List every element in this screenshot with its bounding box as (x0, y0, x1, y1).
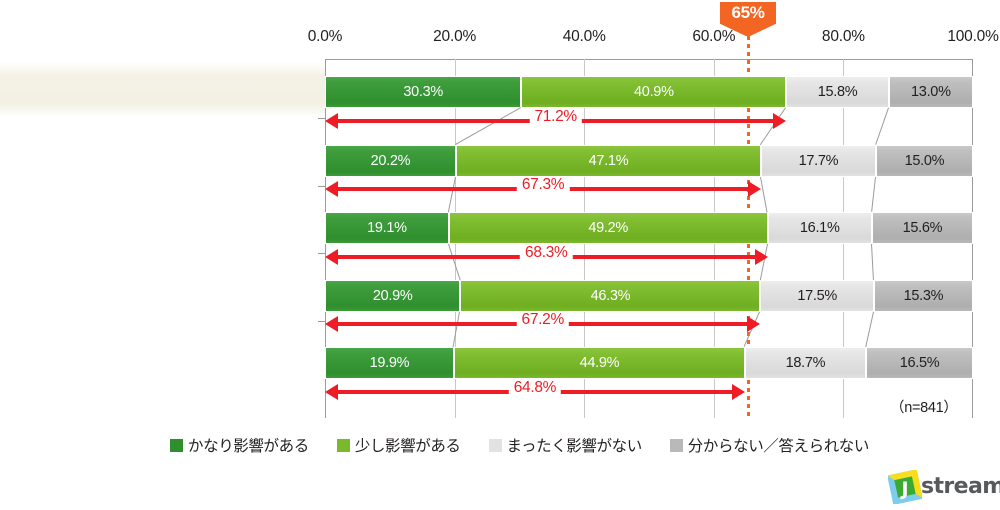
x-axis-tick-label: 80.0% (822, 28, 865, 46)
stacked-bar-chart: 0.0%20.0%40.0%60.0%80.0%100.0% 65% 営業効率へ… (0, 0, 1000, 510)
bar-segment: 16.1% (768, 212, 872, 244)
bar-segment: 20.2% (325, 145, 456, 177)
gridline (584, 59, 585, 76)
bar-segment: 15.0% (876, 145, 973, 177)
legend-item-1[interactable]: 少し影響がある (337, 434, 461, 456)
arrow-total-label: 67.2% (516, 311, 568, 329)
bar-segment: 20.9% (325, 280, 460, 312)
bar-segment: 40.9% (521, 76, 786, 108)
legend-label: 少し影響がある (355, 434, 461, 456)
total-arrow: 64.8% (325, 381, 745, 403)
arrow-total-label: 71.2% (529, 108, 581, 126)
bar-value-label: 49.2% (588, 220, 628, 236)
arrow-head-right (755, 249, 768, 265)
bar-segment: 49.2% (449, 212, 768, 244)
x-axis-tick-label: 100.0% (947, 28, 998, 46)
bar-value-label: 15.6% (903, 220, 943, 236)
arrow-head-right (748, 181, 761, 197)
gridline (714, 59, 715, 76)
legend-label: 分からない／答えられない (688, 434, 869, 456)
bar-segment: 44.9% (454, 347, 745, 379)
legend-swatch-icon (337, 439, 350, 452)
arrow-total-label: 67.3% (517, 176, 569, 194)
legend-label: まったく影響がない (507, 434, 642, 456)
arrow-head-right (732, 384, 745, 400)
legend-item-3[interactable]: 分からない／答えられない (670, 434, 869, 456)
bar-segment: 15.6% (872, 212, 973, 244)
arrow-head-right (747, 316, 760, 332)
arrow-head-left (325, 384, 338, 400)
bar-segment: 19.9% (325, 347, 454, 379)
legend-swatch-icon (489, 439, 502, 452)
bar-value-label: 16.5% (900, 355, 940, 371)
bar-segment: 30.3% (325, 76, 521, 108)
legend-swatch-icon (670, 439, 683, 452)
x-axis-tick-label: 0.0% (308, 28, 343, 46)
bar-value-label: 47.1% (589, 153, 629, 169)
jstream-logo: J stream (888, 468, 992, 506)
bar-value-label: 20.9% (373, 288, 413, 304)
chart-legend: かなり影響がある少し影響があるまったく影響がない分からない／答えられない (170, 434, 869, 456)
arrow-head-left (325, 316, 338, 332)
legend-label: かなり影響がある (188, 434, 309, 456)
x-axis-tick-label: 40.0% (563, 28, 606, 46)
bar-row: 30.3%40.9%15.8%13.0% (325, 76, 973, 108)
bar-segment: 19.1% (325, 212, 449, 244)
bar-segment: 15.8% (786, 76, 888, 108)
bar-segment: 18.7% (745, 347, 866, 379)
jstream-logo-word: stream (921, 474, 1000, 499)
gridline (843, 177, 844, 212)
bar-value-label: 46.3% (591, 288, 631, 304)
total-arrow: 68.3% (325, 246, 768, 268)
bar-value-label: 16.1% (800, 220, 840, 236)
bar-value-label: 17.7% (799, 153, 839, 169)
bar-segment: 47.1% (456, 145, 761, 177)
arrow-head-left (325, 181, 338, 197)
y-axis-tick (318, 321, 325, 322)
bar-value-label: 18.7% (786, 355, 826, 371)
total-arrow: 71.2% (325, 110, 786, 132)
legend-item-2[interactable]: まったく影響がない (489, 434, 642, 456)
x-axis-tick-label: 20.0% (433, 28, 476, 46)
bar-value-label: 44.9% (580, 355, 620, 371)
bar-value-label: 15.0% (905, 153, 945, 169)
bar-value-label: 40.9% (634, 84, 674, 100)
gridline (455, 59, 456, 76)
legend-item-0[interactable]: かなり影響がある (170, 434, 309, 456)
row-highlight-band (0, 62, 325, 118)
bar-row: 20.2%47.1%17.7%15.0% (325, 145, 973, 177)
bar-segment: 17.7% (761, 145, 876, 177)
jstream-logo-mark: J (888, 470, 922, 504)
total-arrow: 67.3% (325, 178, 761, 200)
arrow-head-left (325, 249, 338, 265)
bar-row: 19.1%49.2%16.1%15.6% (325, 212, 973, 244)
gridline (843, 312, 844, 347)
bar-value-label: 19.9% (370, 355, 410, 371)
bar-segment: 16.5% (866, 347, 973, 379)
total-arrow: 67.2% (325, 313, 760, 335)
x-axis-tick-label: 60.0% (692, 28, 735, 46)
gridline (843, 244, 844, 280)
bar-row: 20.9%46.3%17.5%15.3% (325, 280, 973, 312)
bar-segment: 46.3% (460, 280, 760, 312)
gridline (843, 59, 844, 76)
arrow-total-label: 68.3% (520, 244, 572, 262)
bar-segment: 13.0% (889, 76, 973, 108)
x-axis-tick-labels: 0.0%20.0%40.0%60.0%80.0%100.0% (0, 28, 1000, 48)
arrow-total-label: 64.8% (509, 379, 561, 397)
bar-row: 19.9%44.9%18.7%16.5% (325, 347, 973, 379)
arrow-head-left (325, 113, 338, 129)
y-axis-tick (318, 186, 325, 187)
y-axis-tick (318, 118, 325, 119)
y-axis-tick (318, 253, 325, 254)
jstream-logo-letter: J (899, 478, 908, 500)
bar-segment: 17.5% (760, 280, 873, 312)
plot-area-top-border (325, 59, 973, 60)
arrow-head-right (773, 113, 786, 129)
bar-segment: 15.3% (874, 280, 973, 312)
sample-size-note: （n=841） (890, 396, 958, 417)
bar-value-label: 13.0% (911, 84, 951, 100)
legend-swatch-icon (170, 439, 183, 452)
bar-value-label: 15.8% (818, 84, 858, 100)
gridline (843, 379, 844, 418)
bar-value-label: 30.3% (403, 84, 443, 100)
bar-value-label: 15.3% (904, 288, 944, 304)
bar-value-label: 20.2% (371, 153, 411, 169)
bar-value-label: 19.1% (367, 220, 407, 236)
bar-value-label: 17.5% (797, 288, 837, 304)
gridline (843, 108, 844, 145)
